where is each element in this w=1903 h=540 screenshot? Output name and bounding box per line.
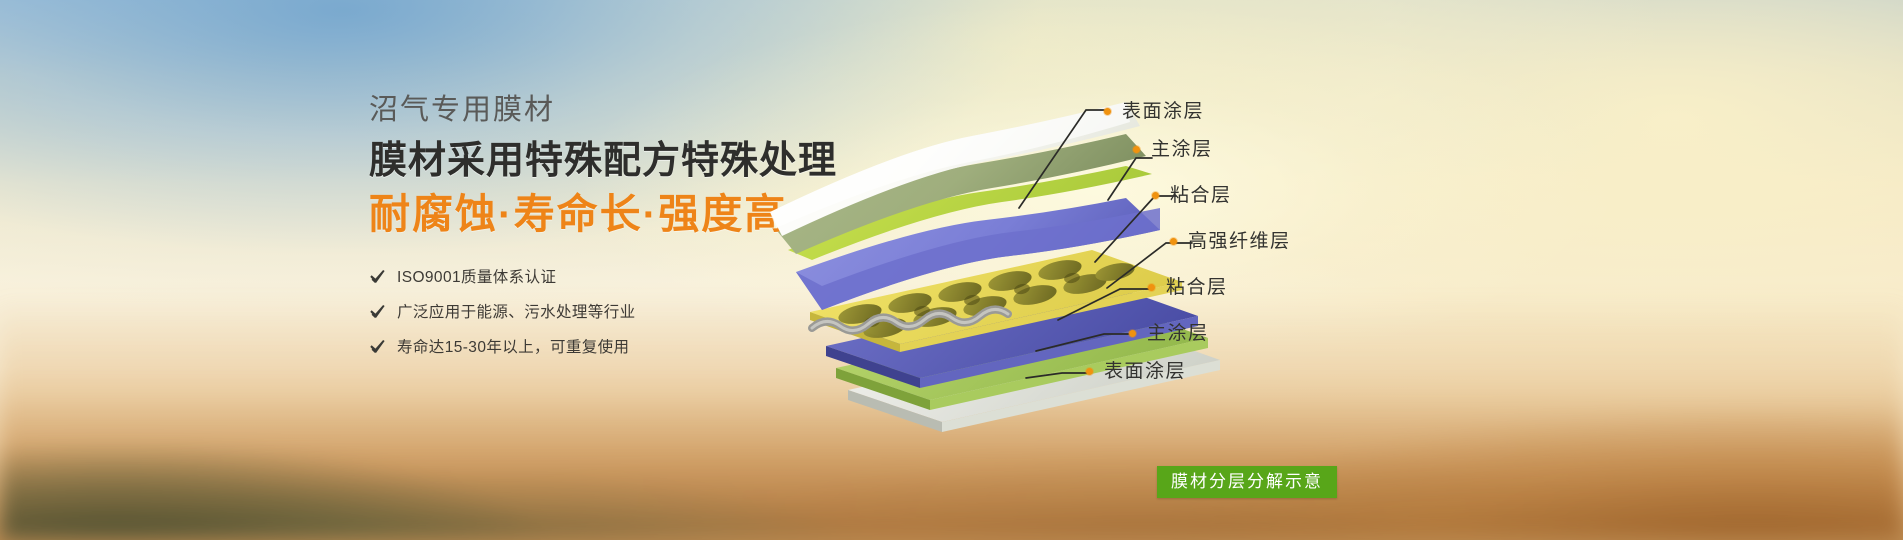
membrane-product-banner: 沼气专用膜材 膜材采用特殊配方特殊处理 耐腐蚀·寿命长·强度高 ISO9001质… (0, 0, 1903, 540)
callout-label: 主涂层 (1151, 140, 1213, 159)
callout-main-coat-top: 主涂层 (1133, 140, 1213, 159)
callout-label: 主涂层 (1147, 324, 1209, 343)
callout-label: 表面涂层 (1104, 362, 1186, 381)
check-mark-icon (369, 304, 386, 321)
callout-label: 表面涂层 (1122, 102, 1204, 121)
callout-label: 粘合层 (1170, 186, 1232, 205)
callout-dot-icon (1086, 368, 1093, 375)
callout-label: 粘合层 (1166, 278, 1228, 297)
callout-dot-icon (1133, 146, 1140, 153)
callout-dot-icon (1170, 238, 1177, 245)
check-mark-icon (369, 269, 386, 286)
callout-adhesive-top: 粘合层 (1152, 186, 1232, 205)
diagram-caption-badge: 膜材分层分解示意 (1157, 466, 1337, 498)
callout-high-strength-fibre: 高强纤维层 (1170, 232, 1291, 251)
callout-dot-icon (1129, 330, 1136, 337)
callout-surface-coat-bottom: 表面涂层 (1086, 362, 1186, 381)
layer-stack-illustration (660, 60, 1220, 480)
callout-dot-icon (1104, 108, 1111, 115)
check-mark-icon (369, 339, 386, 356)
membrane-layer-diagram (660, 60, 1220, 480)
callout-adhesive-bottom: 粘合层 (1148, 278, 1228, 297)
callout-dot-icon (1148, 284, 1155, 291)
feature-text: ISO9001质量体系认证 (397, 270, 556, 286)
callout-main-coat-bottom: 主涂层 (1129, 324, 1209, 343)
callout-dot-icon (1152, 192, 1159, 199)
feature-text: 广泛应用于能源、污水处理等行业 (397, 305, 636, 321)
callout-surface-coat-top: 表面涂层 (1104, 102, 1204, 121)
callout-label: 高强纤维层 (1188, 232, 1291, 251)
feature-text: 寿命达15-30年以上，可重复使用 (397, 340, 629, 356)
